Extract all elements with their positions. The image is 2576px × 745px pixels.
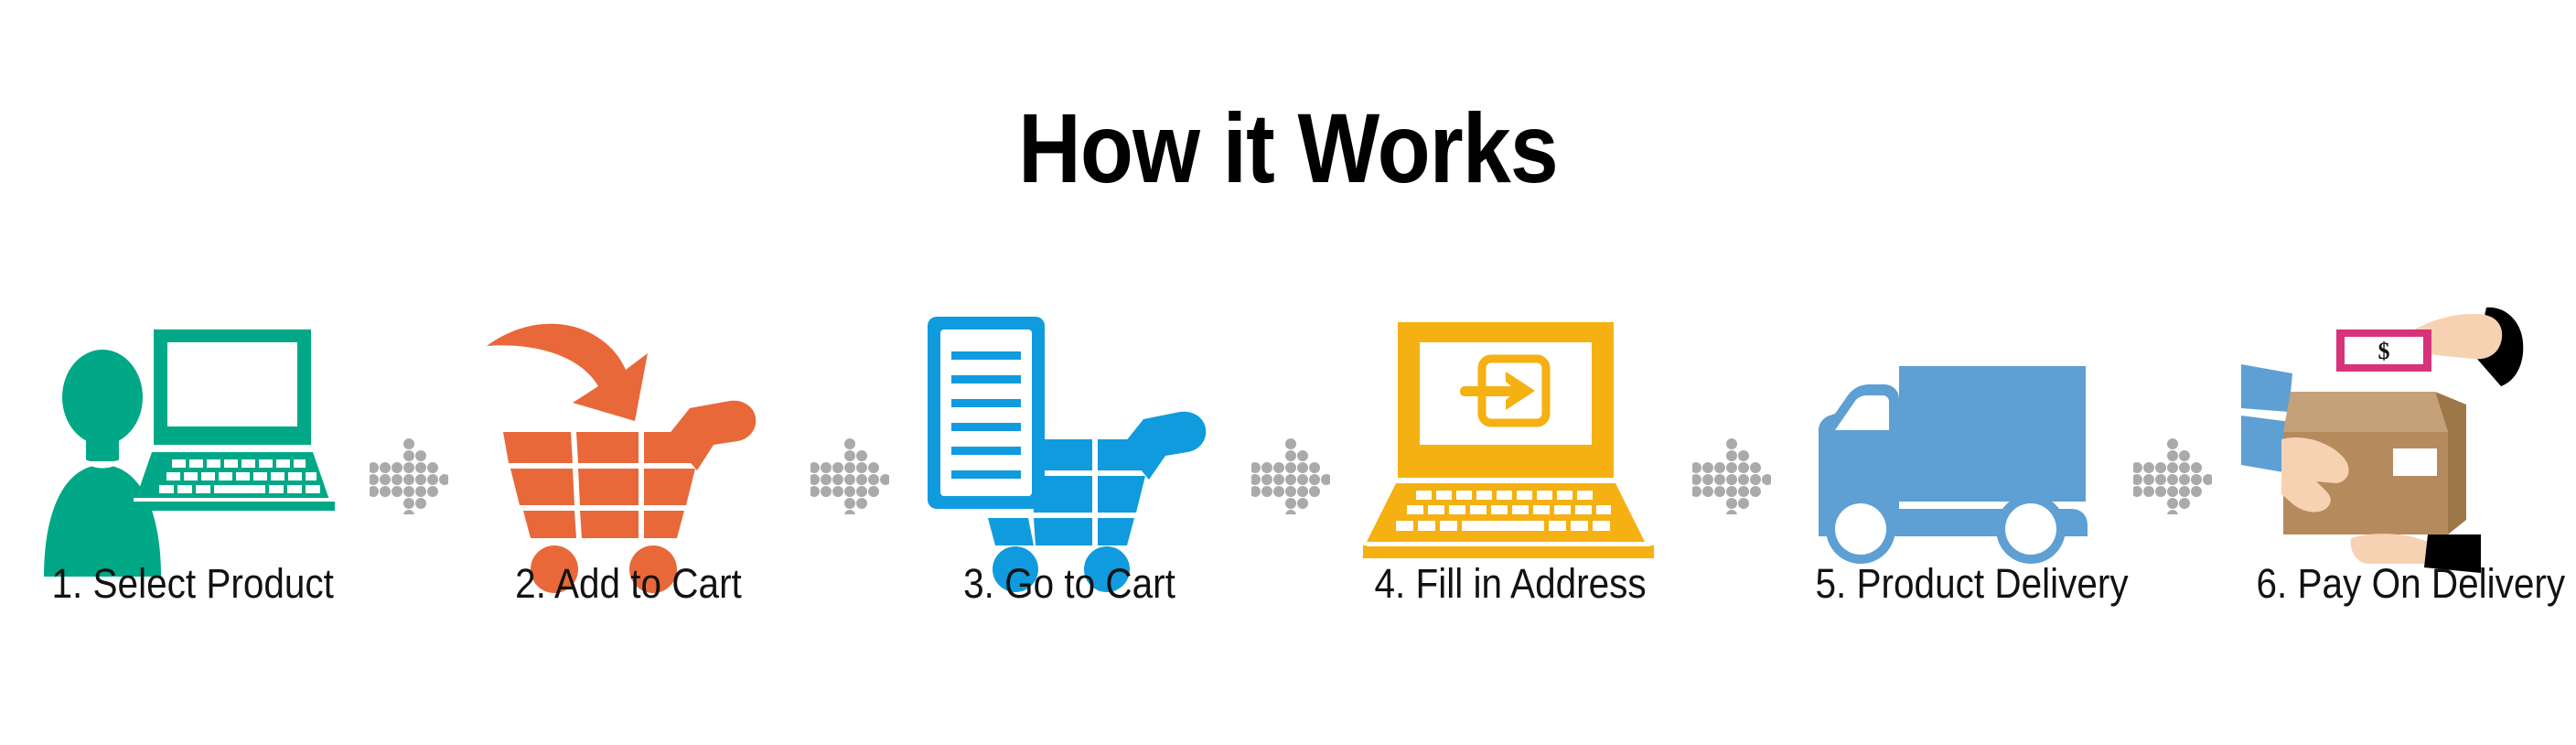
pay-on-delivery-hands-icon: $ (2241, 302, 2543, 595)
shopping-cart-with-arrow-icon (478, 302, 779, 595)
step-6-pay-on-delivery[interactable]: $ (2241, 302, 2543, 595)
person-with-laptop-icon (37, 302, 338, 595)
dotted-arrow-right-icon (1692, 436, 1771, 514)
step-2-add-to-cart[interactable] (478, 302, 779, 595)
dotted-arrow-right-icon (810, 436, 889, 514)
separator-2 (805, 302, 893, 595)
step-5-product-delivery[interactable] (1800, 302, 2102, 595)
dotted-arrow-right-icon (2133, 436, 2212, 514)
page-title: How it Works (155, 99, 2421, 198)
step-1-select-product[interactable] (37, 302, 338, 595)
step-1-label: 1. Select Product (52, 560, 324, 608)
step-2-label: 2. Add to Cart (493, 560, 765, 608)
dotted-arrow-right-icon (370, 436, 448, 514)
step-3-go-to-cart[interactable] (918, 302, 1220, 595)
separator-3 (1246, 302, 1334, 595)
infographic-page: How it Works (0, 0, 2576, 745)
step-4-fill-in-address[interactable] (1359, 302, 1661, 595)
dotted-arrow-right-icon (1251, 436, 1330, 514)
steps-row: $ (37, 302, 2543, 595)
step-labels-row: 1. Select Product 2. Add to Cart 3. Go t… (37, 560, 2543, 624)
separator-1 (364, 302, 452, 595)
delivery-truck-icon (1800, 302, 2102, 595)
laptop-with-login-arrow-icon (1359, 302, 1661, 595)
step-4-label: 4. Fill in Address (1375, 560, 1647, 608)
banknote-dollar-symbol: $ (2378, 338, 2390, 364)
separator-4 (1687, 302, 1775, 595)
separator-5 (2128, 302, 2216, 595)
document-and-cart-icon (918, 302, 1220, 595)
step-5-label: 5. Product Delivery (1816, 560, 2088, 608)
step-3-label: 3. Go to Cart (934, 560, 1206, 608)
step-6-label: 6. Pay On Delivery (2257, 560, 2528, 608)
